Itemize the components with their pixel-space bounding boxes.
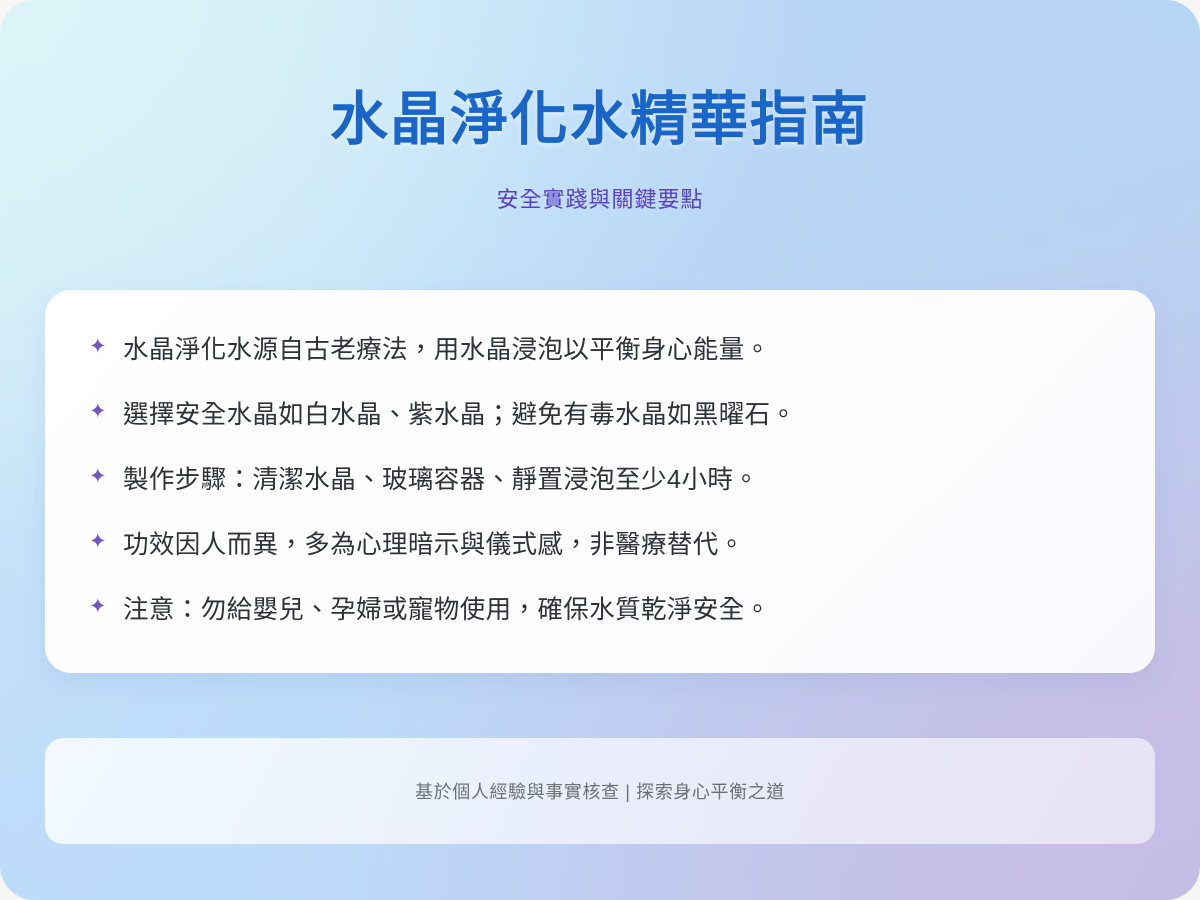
list-item: ✦ 注意：勿給嬰兒、孕婦或寵物使用，確保水質乾淨安全。 — [81, 578, 1119, 643]
list-item: ✦ 製作步驟：清潔水晶、玻璃容器、靜置浸泡至少4小時。 — [81, 448, 1119, 513]
page-title: 水晶淨化水精華指南 — [0, 86, 1200, 154]
poster-footer: 基於個人經驗與事實核查 | 探索身心平衡之道 — [45, 738, 1155, 844]
sparkle-icon: ✦ — [89, 596, 123, 617]
footer-text: 基於個人經驗與事實核查 | 探索身心平衡之道 — [415, 778, 785, 804]
sparkle-icon: ✦ — [89, 401, 123, 422]
bullet-list: ✦ 水晶淨化水源自古老療法，用水晶浸泡以平衡身心能量。 ✦ 選擇安全水晶如白水晶… — [81, 318, 1119, 643]
page-subtitle: 安全實踐與關鍵要點 — [0, 182, 1200, 214]
key-points-card: ✦ 水晶淨化水源自古老療法，用水晶浸泡以平衡身心能量。 ✦ 選擇安全水晶如白水晶… — [45, 290, 1155, 673]
sparkle-icon: ✦ — [89, 336, 123, 357]
infographic-poster: 水晶淨化水精華指南 安全實踐與關鍵要點 ✦ 水晶淨化水源自古老療法，用水晶浸泡以… — [0, 0, 1200, 900]
list-item: ✦ 功效因人而異，多為心理暗示與儀式感，非醫療替代。 — [81, 513, 1119, 578]
sparkle-icon: ✦ — [89, 531, 123, 552]
list-item-text: 注意：勿給嬰兒、孕婦或寵物使用，確保水質乾淨安全。 — [123, 592, 1119, 629]
sparkle-icon: ✦ — [89, 466, 123, 487]
list-item-text: 選擇安全水晶如白水晶、紫水晶；避免有毒水晶如黑曜石。 — [123, 397, 1119, 434]
list-item: ✦ 水晶淨化水源自古老療法，用水晶浸泡以平衡身心能量。 — [81, 318, 1119, 383]
list-item-text: 製作步驟：清潔水晶、玻璃容器、靜置浸泡至少4小時。 — [123, 462, 1119, 499]
list-item-text: 功效因人而異，多為心理暗示與儀式感，非醫療替代。 — [123, 527, 1119, 564]
list-item-text: 水晶淨化水源自古老療法，用水晶浸泡以平衡身心能量。 — [123, 332, 1119, 369]
poster-header: 水晶淨化水精華指南 安全實踐與關鍵要點 — [0, 0, 1200, 214]
list-item: ✦ 選擇安全水晶如白水晶、紫水晶；避免有毒水晶如黑曜石。 — [81, 383, 1119, 448]
